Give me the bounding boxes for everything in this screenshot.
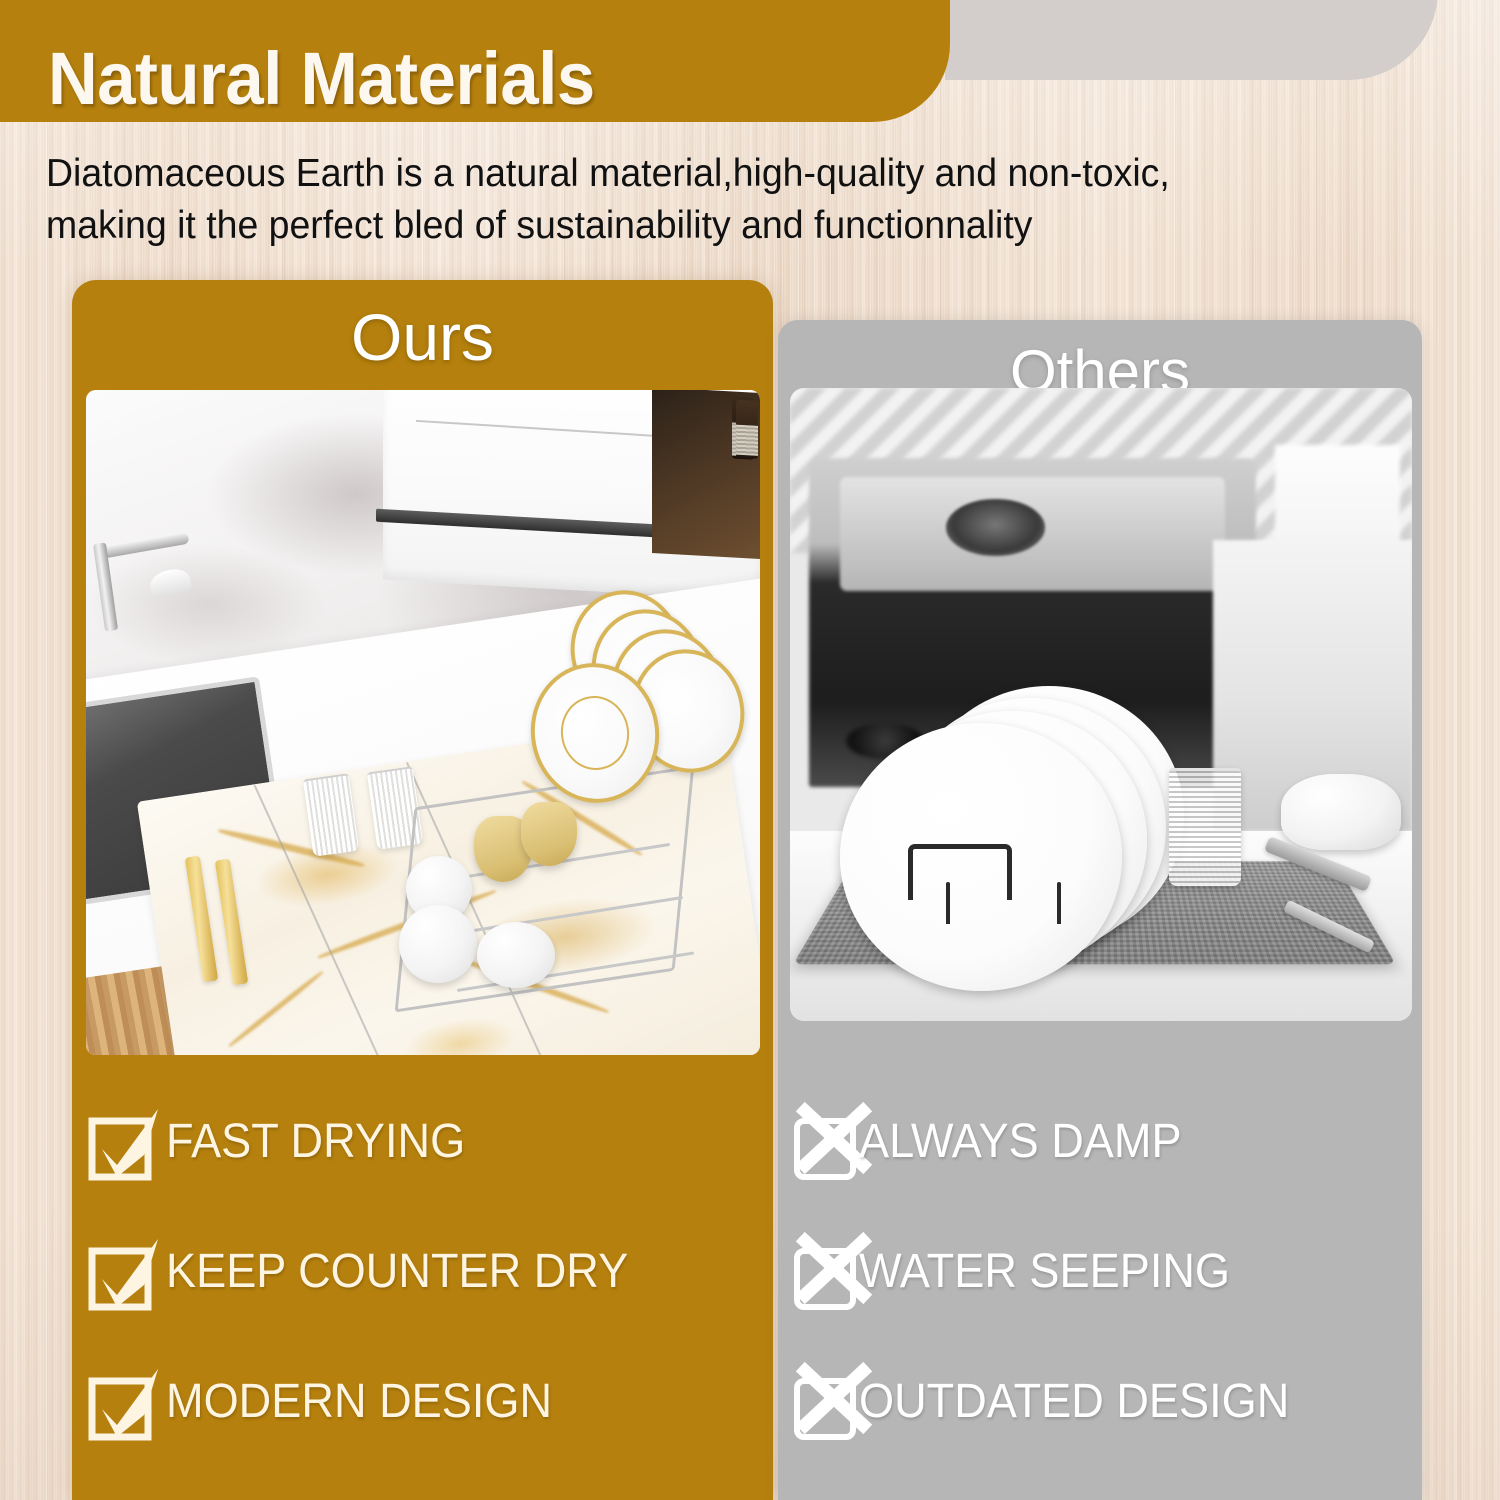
stand-leg-right — [1057, 882, 1061, 924]
ours-heading: Ours — [72, 280, 773, 370]
feature-row-ours-2: MODERN DESIGN — [88, 1370, 758, 1434]
bottle-label — [736, 424, 758, 455]
plate-inner-ring — [555, 690, 634, 774]
subtitle-description: Diatomaceous Earth is a natural material… — [46, 148, 1400, 252]
feature-row-others-1: WATER SEEPING — [795, 1240, 1415, 1304]
checkbox-checked-icon — [88, 1371, 150, 1433]
wire-plate-stand — [908, 844, 1012, 900]
feature-row-ours-1: KEEP COUNTER DRY — [88, 1240, 758, 1304]
checkbox-checked-icon — [88, 1241, 150, 1303]
subtitle-line-1: Diatomaceous Earth is a natural material… — [46, 148, 1400, 200]
ours-feature-list: FAST DRYING KEEP COUNTER DRY MODERN DESI… — [88, 1110, 758, 1500]
feature-row-others-0: ALWAYS DAMP — [795, 1110, 1415, 1174]
checkbox-crossed-icon — [795, 1111, 857, 1173]
subtitle-line-2: making it the perfect bled of sustainabi… — [46, 200, 1400, 252]
ours-product-photo — [86, 390, 760, 1055]
feature-label-ours-1: KEEP COUNTER DRY — [166, 1248, 628, 1296]
stove-dial — [946, 499, 1046, 556]
white-bowl-3 — [477, 922, 555, 988]
feature-label-others-2: OUTDATED DESIGN — [859, 1378, 1289, 1426]
stand-leg-left — [946, 882, 950, 924]
top-right-grey-accent-shape — [945, 0, 1438, 80]
feature-row-ours-0: FAST DRYING — [88, 1110, 758, 1174]
drinking-glass — [1169, 768, 1241, 886]
feature-label-others-0: ALWAYS DAMP — [859, 1118, 1182, 1166]
bottle-2 — [736, 400, 758, 459]
header-banner: Natural Materials — [0, 0, 950, 122]
white-pot — [1281, 774, 1401, 850]
page-title: Natural Materials — [48, 42, 595, 116]
checkbox-crossed-icon — [795, 1371, 857, 1433]
feature-label-others-1: WATER SEEPING — [859, 1248, 1230, 1296]
others-feature-list: ALWAYS DAMP WATER SEEPING OUTDATED DESIG… — [795, 1110, 1415, 1500]
feature-label-ours-0: FAST DRYING — [166, 1118, 465, 1166]
checkbox-checked-icon — [88, 1111, 150, 1173]
others-product-photo — [790, 388, 1412, 1021]
feature-label-ours-2: MODERN DESIGN — [166, 1378, 552, 1426]
feature-row-others-2: OUTDATED DESIGN — [795, 1370, 1415, 1434]
gold-cup-2 — [521, 802, 577, 866]
checkbox-crossed-icon — [795, 1241, 857, 1303]
dark-shelf-niche — [652, 390, 760, 559]
